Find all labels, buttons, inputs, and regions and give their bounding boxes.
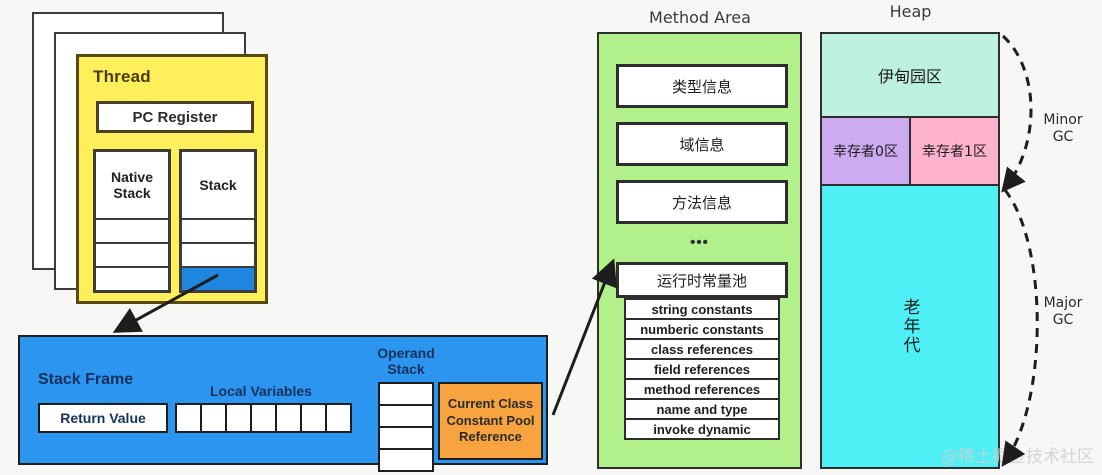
heap-box[interactable]: 伊甸园区 幸存者0区 幸存者1区 老年代: [820, 32, 1000, 469]
native-stack-label-line1: Native: [111, 169, 153, 185]
constant-pool-list: string constants numberic constants clas…: [624, 298, 780, 438]
heap-title: Heap: [818, 2, 1003, 21]
local-variables-label: Local Variables: [210, 383, 312, 399]
native-stack-cell[interactable]: [96, 244, 168, 268]
native-stack-cell[interactable]: [96, 268, 168, 290]
local-variable-cell[interactable]: [250, 403, 277, 433]
major-gc-label: Major GC: [1030, 295, 1096, 329]
constant-pool-item[interactable]: name and type: [624, 398, 780, 420]
diagram-canvas: Thread PC Register Native Stack Stack St…: [0, 0, 1102, 475]
heap-old-generation-label: 老年代: [898, 298, 923, 355]
ccp-line3: Reference: [459, 429, 522, 444]
operand-stack-cell[interactable]: [378, 382, 434, 406]
method-area-item-field-info[interactable]: 域信息: [616, 122, 788, 166]
constant-pool-item[interactable]: invoke dynamic: [624, 418, 780, 440]
local-variable-cell[interactable]: [325, 403, 352, 433]
local-variable-cell[interactable]: [300, 403, 327, 433]
stack-cell[interactable]: [182, 220, 254, 244]
pc-register-box[interactable]: PC Register: [96, 101, 254, 133]
operand-stack-cell[interactable]: [378, 404, 434, 428]
constant-pool-item[interactable]: method references: [624, 378, 780, 400]
minor-gc-line1: Minor: [1043, 112, 1082, 128]
heap-survivor-row: 幸存者0区 幸存者1区: [822, 118, 998, 186]
heap-eden-region[interactable]: 伊甸园区: [822, 34, 998, 118]
native-stack-label: Native Stack: [96, 152, 168, 220]
minor-gc-label: Minor GC: [1030, 112, 1096, 146]
ccp-line1: Current Class: [448, 396, 533, 411]
method-area-item-method-info[interactable]: 方法信息: [616, 180, 788, 224]
thread-title: Thread: [93, 67, 151, 87]
method-area-ellipsis: •••: [599, 234, 800, 251]
heap-old-generation-region[interactable]: 老年代: [822, 186, 998, 467]
major-gc-line1: Major: [1044, 295, 1083, 311]
operand-stack-column[interactable]: [378, 382, 434, 470]
local-variables-row: [175, 403, 350, 433]
local-variable-cell[interactable]: [175, 403, 202, 433]
runtime-constant-pool-box[interactable]: 运行时常量池: [616, 262, 788, 298]
local-variable-cell[interactable]: [225, 403, 252, 433]
stack-frame-title: Stack Frame: [38, 371, 133, 389]
stack-cell-active[interactable]: [182, 268, 254, 290]
local-variable-cell[interactable]: [200, 403, 227, 433]
constant-pool-item[interactable]: string constants: [624, 298, 780, 320]
current-class-constant-pool-reference-box[interactable]: Current Class Constant Pool Reference: [438, 382, 543, 460]
operand-stack-label: Operand Stack: [370, 346, 442, 377]
native-stack-column[interactable]: Native Stack: [93, 149, 171, 293]
stack-frame-box[interactable]: Stack Frame Return Value Local Variables…: [18, 335, 548, 465]
local-variable-cell[interactable]: [275, 403, 302, 433]
operand-stack-cell[interactable]: [378, 426, 434, 450]
constant-pool-item[interactable]: field references: [624, 358, 780, 380]
method-area-title: Method Area: [595, 8, 805, 27]
native-stack-label-line2: Stack: [113, 185, 150, 201]
operand-stack-label-line1: Operand: [377, 345, 435, 361]
method-area-box[interactable]: 类型信息 域信息 方法信息 ••• 运行时常量池 string constant…: [597, 32, 802, 469]
operand-stack-group: Operand Stack: [370, 342, 445, 464]
return-value-box[interactable]: Return Value: [38, 403, 168, 433]
heap-survivor0-region[interactable]: 幸存者0区: [822, 118, 911, 184]
operand-stack-label-line2: Stack: [387, 361, 424, 377]
major-gc-line2: GC: [1053, 312, 1074, 328]
stack-cell[interactable]: [182, 244, 254, 268]
stack-column[interactable]: Stack: [179, 149, 257, 293]
native-stack-cell[interactable]: [96, 220, 168, 244]
minor-gc-arc: [1003, 36, 1031, 188]
heap-survivor1-region[interactable]: 幸存者1区: [911, 118, 998, 184]
thread-card[interactable]: Thread PC Register Native Stack Stack: [76, 54, 268, 304]
stack-label: Stack: [182, 152, 254, 220]
constant-pool-item[interactable]: class references: [624, 338, 780, 360]
minor-gc-line2: GC: [1053, 129, 1074, 145]
ccp-line2: Constant Pool: [446, 413, 534, 428]
operand-stack-cell[interactable]: [378, 448, 434, 472]
method-area-item-type-info[interactable]: 类型信息: [616, 64, 788, 108]
constant-pool-item[interactable]: numberic constants: [624, 318, 780, 340]
